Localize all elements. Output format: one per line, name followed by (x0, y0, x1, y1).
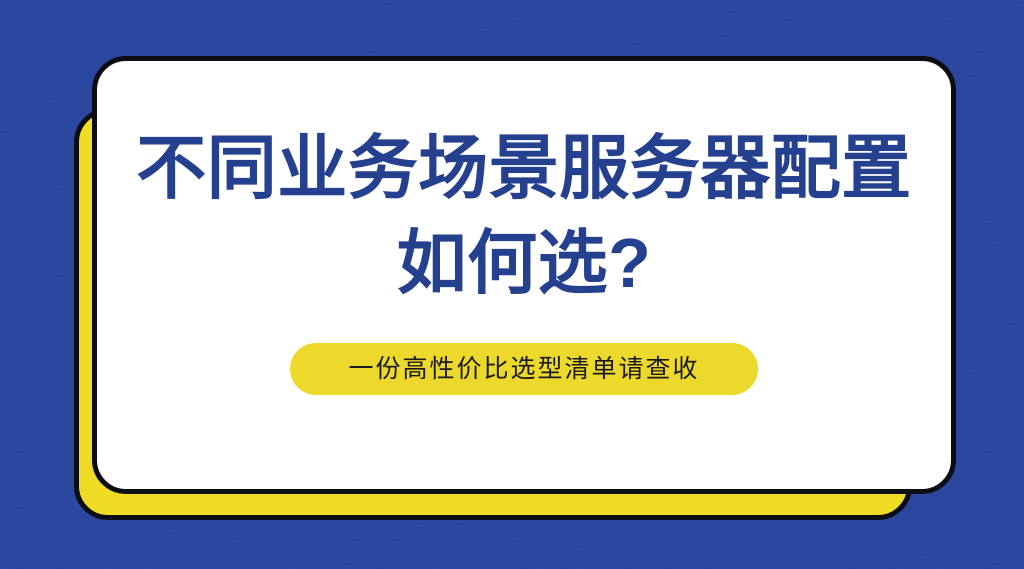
white-content-card: 不同业务场景服务器配置 如何选? 一份高性价比选型清单请查收 (92, 56, 956, 494)
title-line-2: 如何选? (97, 218, 951, 309)
cover-slide: 不同业务场景服务器配置 如何选? 一份高性价比选型清单请查收 (0, 0, 1024, 569)
page-title: 不同业务场景服务器配置 如何选? (97, 123, 951, 309)
card-stack: 不同业务场景服务器配置 如何选? 一份高性价比选型清单请查收 (0, 0, 1024, 569)
subtitle-badge: 一份高性价比选型清单请查收 (290, 343, 757, 395)
title-line-1: 不同业务场景服务器配置 (97, 123, 951, 214)
